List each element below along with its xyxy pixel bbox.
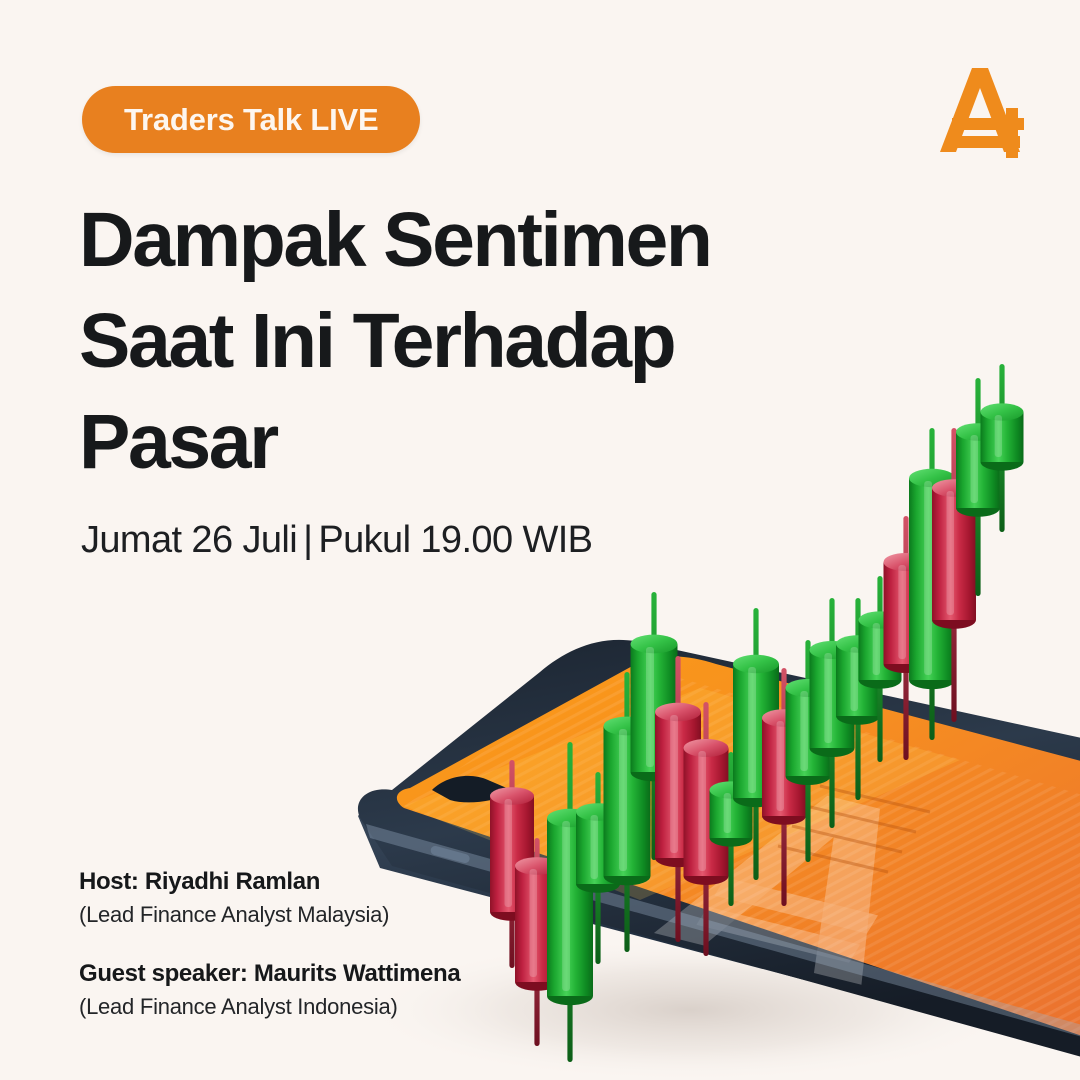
candle-highlight bbox=[924, 481, 932, 675]
candle-highlight bbox=[619, 729, 627, 871]
candle-highlight bbox=[505, 799, 512, 907]
badge-label: Traders Talk LIVE bbox=[124, 102, 378, 138]
candle-highlight bbox=[591, 815, 598, 879]
candle-highlight bbox=[873, 623, 880, 675]
candle-highlight bbox=[824, 653, 832, 743]
candle-highlight bbox=[670, 715, 678, 853]
event-date: Jumat 26 Juli bbox=[81, 519, 297, 561]
headline-line-1: Dampak Sentimen bbox=[79, 190, 839, 291]
candle-highlight bbox=[646, 647, 654, 767]
candle-highlight bbox=[995, 415, 1002, 457]
candle-highlight bbox=[724, 793, 731, 833]
brand-a-logo bbox=[928, 58, 1032, 162]
traders-talk-live-badge[interactable]: Traders Talk LIVE bbox=[82, 86, 420, 153]
guest-speaker-block: Guest speaker: Maurits Wattimena (Lead F… bbox=[79, 958, 460, 1022]
candle-highlight bbox=[947, 491, 954, 615]
host-block: Host: Riyadhi Ramlan (Lead Finance Analy… bbox=[79, 866, 460, 930]
speakers-list: Host: Riyadhi Ramlan (Lead Finance Analy… bbox=[79, 866, 460, 1022]
candle-highlight bbox=[971, 435, 978, 503]
event-time: Pukul 19.00 WIB bbox=[318, 519, 592, 561]
headline-line-3: Pasar bbox=[79, 392, 839, 493]
host-role: (Lead Finance Analyst Malaysia) bbox=[79, 899, 460, 930]
candle-highlight bbox=[562, 821, 570, 991]
candle-highlight bbox=[698, 751, 706, 871]
guest-speaker-role: (Lead Finance Analyst Indonesia) bbox=[79, 991, 460, 1022]
poster-canvas: Traders Talk LIVE Dampak Sentimen Saat I… bbox=[0, 0, 1080, 1080]
host-name: Host: Riyadhi Ramlan bbox=[79, 866, 460, 898]
candle-highlight bbox=[851, 647, 858, 711]
candle-highlight bbox=[748, 667, 756, 793]
candle-highlight bbox=[800, 691, 808, 771]
page-title: Dampak Sentimen Saat Ini Terhadap Pasar bbox=[79, 190, 839, 493]
event-datetime: Jumat 26 Juli|Pukul 19.00 WIB bbox=[81, 516, 592, 564]
candle-highlight bbox=[530, 869, 537, 977]
guest-speaker-name: Guest speaker: Maurits Wattimena bbox=[79, 958, 460, 990]
candle-highlight bbox=[898, 565, 906, 659]
datetime-separator: | bbox=[297, 519, 318, 561]
candle-highlight bbox=[777, 721, 784, 811]
headline-line-2: Saat Ini Terhadap bbox=[79, 291, 839, 392]
